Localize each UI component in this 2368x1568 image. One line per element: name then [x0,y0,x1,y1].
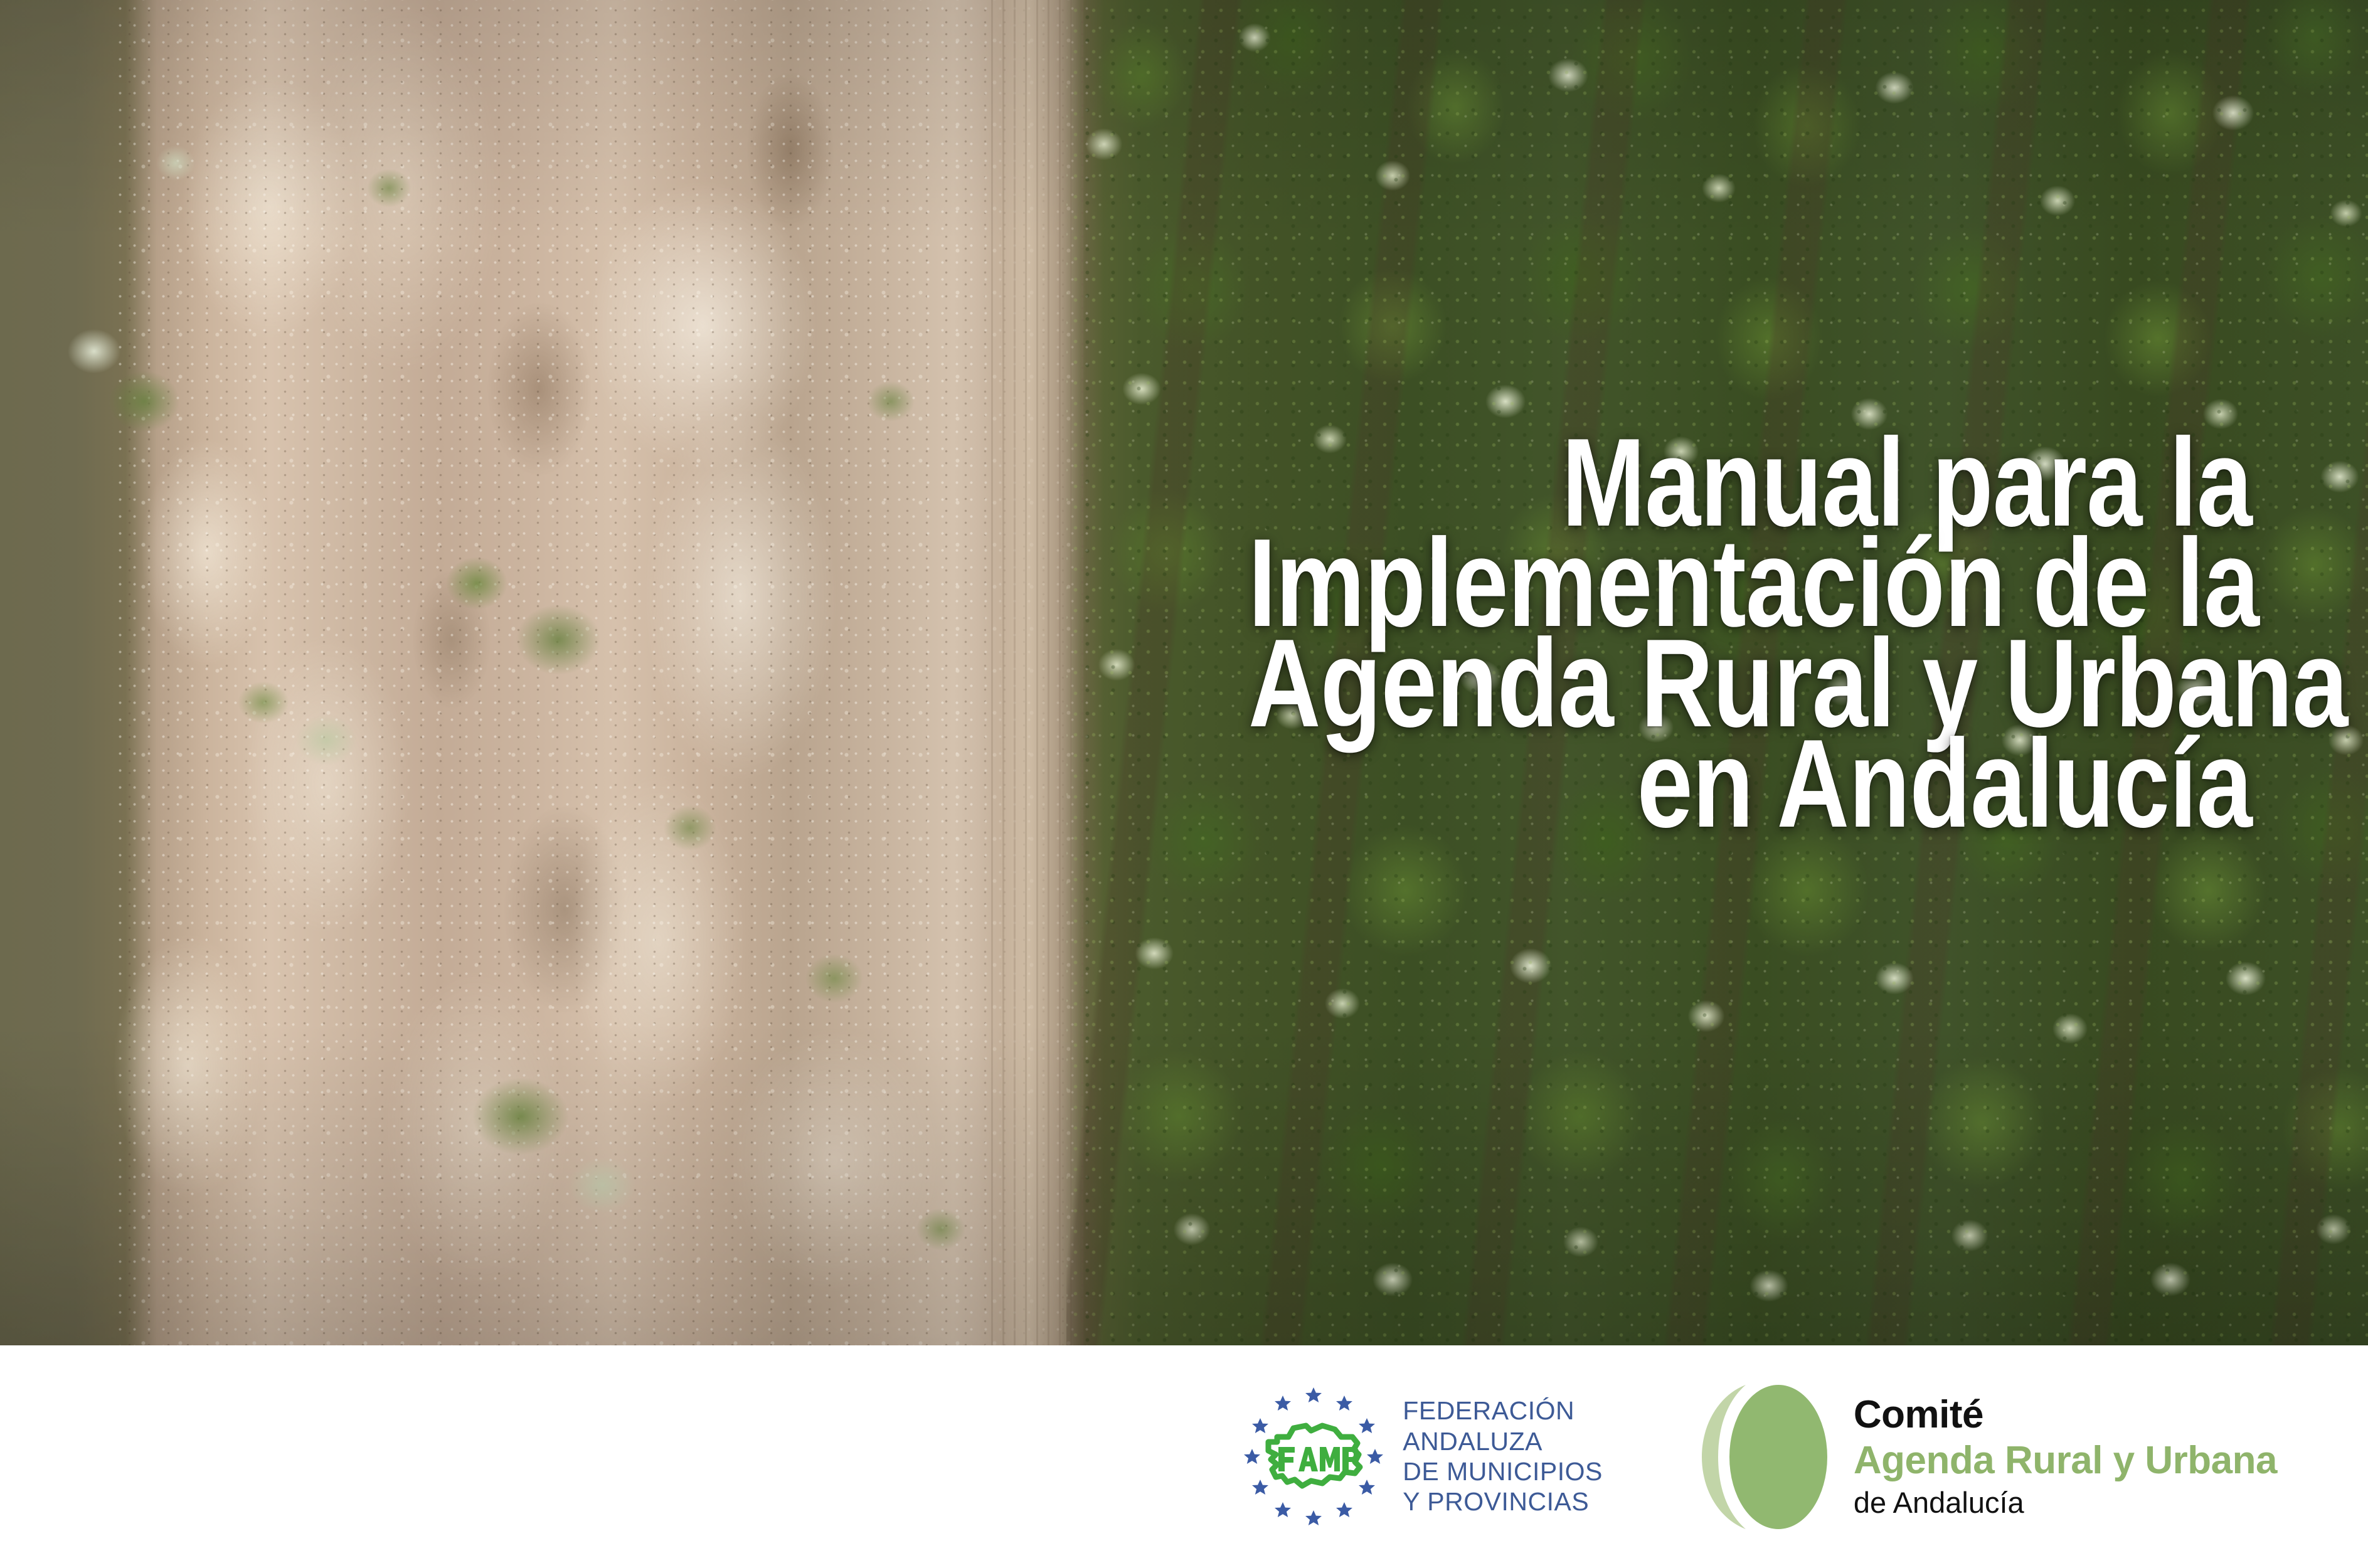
comite-line-3: de Andalucía [1854,1483,2277,1522]
famp-text-line-2: ANDALUZA [1403,1428,1603,1455]
green-ellipse-crescent-icon [1697,1379,1832,1535]
comite-line-2: Agenda Rural y Urbana [1854,1438,2277,1483]
famp-text-line-4: Y PROVINCIAS [1403,1488,1603,1515]
cover-page: Manual para la Implementación de la Agen… [0,0,2368,1568]
famp-logo-text: FEDERACIÓN ANDALUZA DE MUNICIPIOS Y PROV… [1403,1397,1603,1516]
title-line-4: en Andalucía [1248,734,2252,834]
comite-line-1: Comité [1854,1392,2277,1438]
page-title: Manual para la Implementación de la Agen… [997,433,2252,834]
footer-logo-band: FEDERACIÓN ANDALUZA DE MUNICIPIOS Y PROV… [0,1345,2368,1568]
famp-logo: FEDERACIÓN ANDALUZA DE MUNICIPIOS Y PROV… [1241,1384,1603,1530]
comite-logo-text: Comité Agenda Rural y Urbana de Andalucí… [1854,1392,2277,1522]
famp-text-line-1: FEDERACIÓN [1403,1397,1603,1424]
comite-logo: Comité Agenda Rural y Urbana de Andalucí… [1697,1379,2277,1535]
eu-stars-andalusia-map-icon [1241,1384,1386,1530]
famp-text-line-3: DE MUNICIPIOS [1403,1458,1603,1485]
